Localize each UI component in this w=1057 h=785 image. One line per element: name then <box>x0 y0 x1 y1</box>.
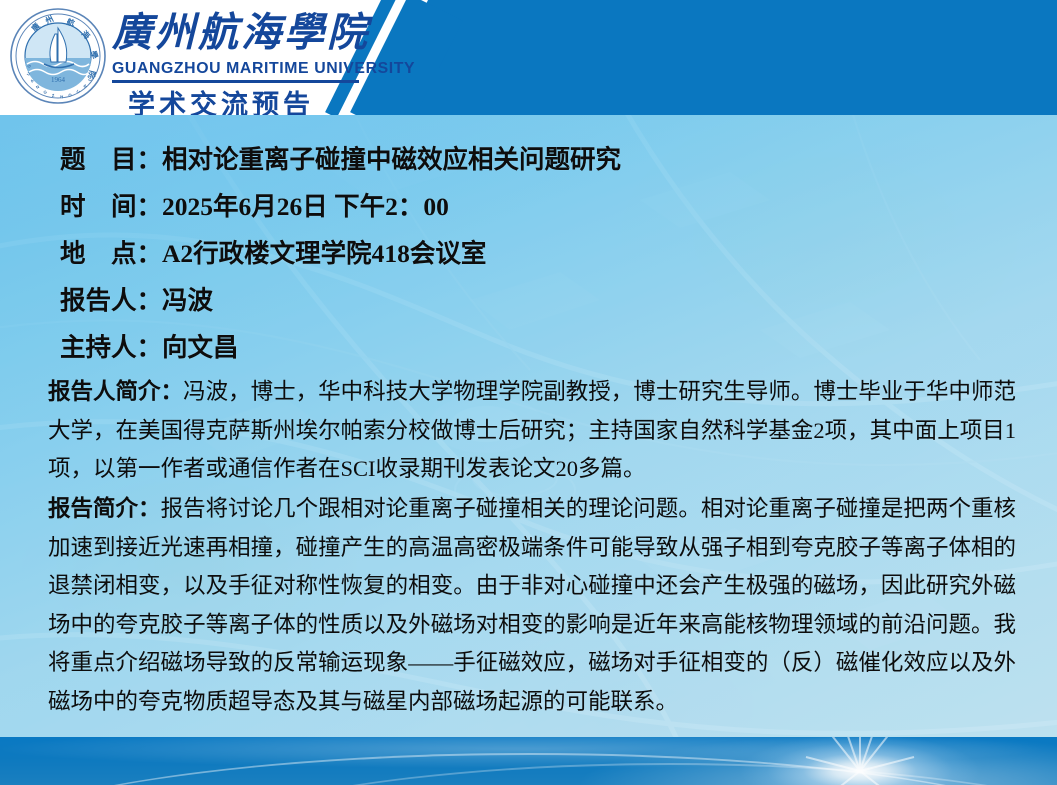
abstract-paragraph: 报告简介：报告将讨论几个跟相对论重离子碰撞相关的理论问题。相对论重离子碰撞是把两… <box>48 490 1016 721</box>
field-time-label: 时 间： <box>60 192 162 221</box>
field-location-value: A2行政楼文理学院418会议室 <box>162 239 486 268</box>
svg-text:H: H <box>60 94 64 99</box>
field-topic: 题 目：相对论重离子碰撞中磁效应相关问题研究 <box>60 136 1040 183</box>
field-time: 时 间：2025年6月26日 下午2：00 <box>60 183 1040 230</box>
poster-header: 1964 廣 州 航 海 學 院 G U A N G Z H O <box>0 0 1057 115</box>
speaker-bio-paragraph: 报告人简介：冯波，博士，华中科技大学物理学院副教授，博士研究生导师。博士毕业于华… <box>48 373 1016 489</box>
field-host: 主持人：向文昌 <box>60 324 1040 371</box>
header-subtitle: 学术交流预告 <box>128 83 314 115</box>
speaker-bio-body: 冯波，博士，华中科技大学物理学院副教授，博士研究生导师。博士毕业于华中师范大学，… <box>48 379 1016 481</box>
detail-field-list: 题 目：相对论重离子碰撞中磁效应相关问题研究 时 间：2025年6月26日 下午… <box>60 136 1040 371</box>
field-speaker-label: 报告人： <box>60 286 162 315</box>
field-time-value: 2025年6月26日 下午2：00 <box>162 192 449 221</box>
field-host-label: 主持人： <box>60 333 162 362</box>
university-name-cn: 廣州航海學院 <box>112 8 370 58</box>
field-host-value: 向文昌 <box>162 333 239 362</box>
field-topic-label: 题 目： <box>60 145 162 174</box>
field-speaker: 报告人：冯波 <box>60 277 1040 324</box>
poster-content: 题 目：相对论重离子碰撞中磁效应相关问题研究 时 间：2025年6月26日 下午… <box>0 115 1057 785</box>
field-topic-value: 相对论重离子碰撞中磁效应相关问题研究 <box>162 145 621 174</box>
abstract-body: 报告将讨论几个跟相对论重离子碰撞相关的理论问题。相对论重离子碰撞是把两个重核加速… <box>48 496 1016 714</box>
abstract-title: 报告简介： <box>48 496 161 521</box>
field-location: 地 点：A2行政楼文理学院418会议室 <box>60 230 1040 277</box>
seminar-announcement-poster: 1964 廣 州 航 海 學 院 G U A N G Z H O <box>0 0 1057 785</box>
field-location-label: 地 点： <box>60 239 162 268</box>
field-speaker-value: 冯波 <box>162 286 213 315</box>
speaker-bio-title: 报告人简介： <box>48 379 183 404</box>
university-name-en: GUANGZHOU MARITIME UNIVERSITY <box>112 60 415 78</box>
svg-text:1964: 1964 <box>51 76 66 84</box>
university-logo: 1964 廣 州 航 海 學 院 G U A N G Z H O <box>8 6 108 106</box>
